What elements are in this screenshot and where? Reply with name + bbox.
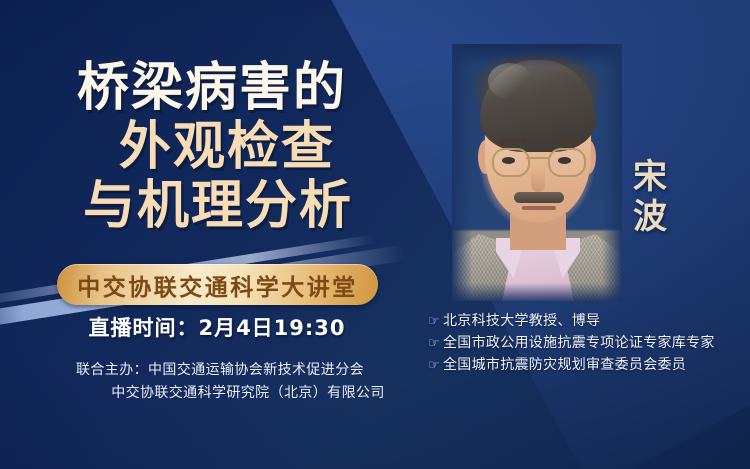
organizer-line-2: 中交协联交通科学研究院（北京）有限公司 [0,382,440,405]
speaker-name-char-2: 波 [628,197,672,237]
speaker-photo [452,44,622,301]
pointing-hand-icon: ☞ [428,355,443,376]
series-badge: 中交协联交通科学大讲堂 [57,264,378,305]
speaker-photo-image [452,44,622,301]
page-title: 桥梁病害的 外观检查 与机理分析 [0,62,430,233]
title-line-2: 外观检查 [24,121,430,174]
credential-text: 北京科技大学教授、博导 [443,311,600,333]
speaker-credentials: ☞ 北京科技大学教授、博导 ☞ 全国市政公用设施抗震专项论证专家库专家 ☞ 全国… [428,311,715,376]
moustache [514,192,564,203]
credential-item: ☞ 北京科技大学教授、博导 [428,311,715,333]
organizers: 联合主办：中国交通运输协会新技术促进分会 中交协联交通科学研究院（北京）有限公司 [0,359,440,404]
speaker-name-char-1: 宋 [628,157,672,197]
pointing-hand-icon: ☞ [428,333,443,354]
eyeglasses-left-lens [492,148,530,177]
webinar-poster: 桥梁病害的 外观检查 与机理分析 中交协联交通科学大讲堂 直播时间：2月4日19… [0,0,750,469]
eyeglasses-bridge [526,157,548,159]
nose [531,168,545,192]
title-line-3: 与机理分析 [6,180,430,233]
live-time: 直播时间：2月4日19:30 [0,312,434,342]
pointing-hand-icon: ☞ [428,311,443,332]
eyeglasses-right-lens [548,148,586,177]
credential-item: ☞ 全国城市抗震防灾规划审查委员会委员 [428,355,715,377]
title-line-1: 桥梁病害的 [0,62,430,115]
series-badge-label: 中交协联交通科学大讲堂 [77,268,358,302]
speaker-name: 宋 波 [628,157,672,237]
hair-highlight [488,63,532,99]
organizer-line-1: 联合主办：中国交通运输协会新技术促进分会 [0,359,440,382]
credential-text: 全国市政公用设施抗震专项论证专家库专家 [443,333,715,355]
mouth [522,206,556,210]
credential-item: ☞ 全国市政公用设施抗震专项论证专家库专家 [428,333,715,355]
credential-text: 全国城市抗震防灾规划审查委员会委员 [443,355,686,377]
